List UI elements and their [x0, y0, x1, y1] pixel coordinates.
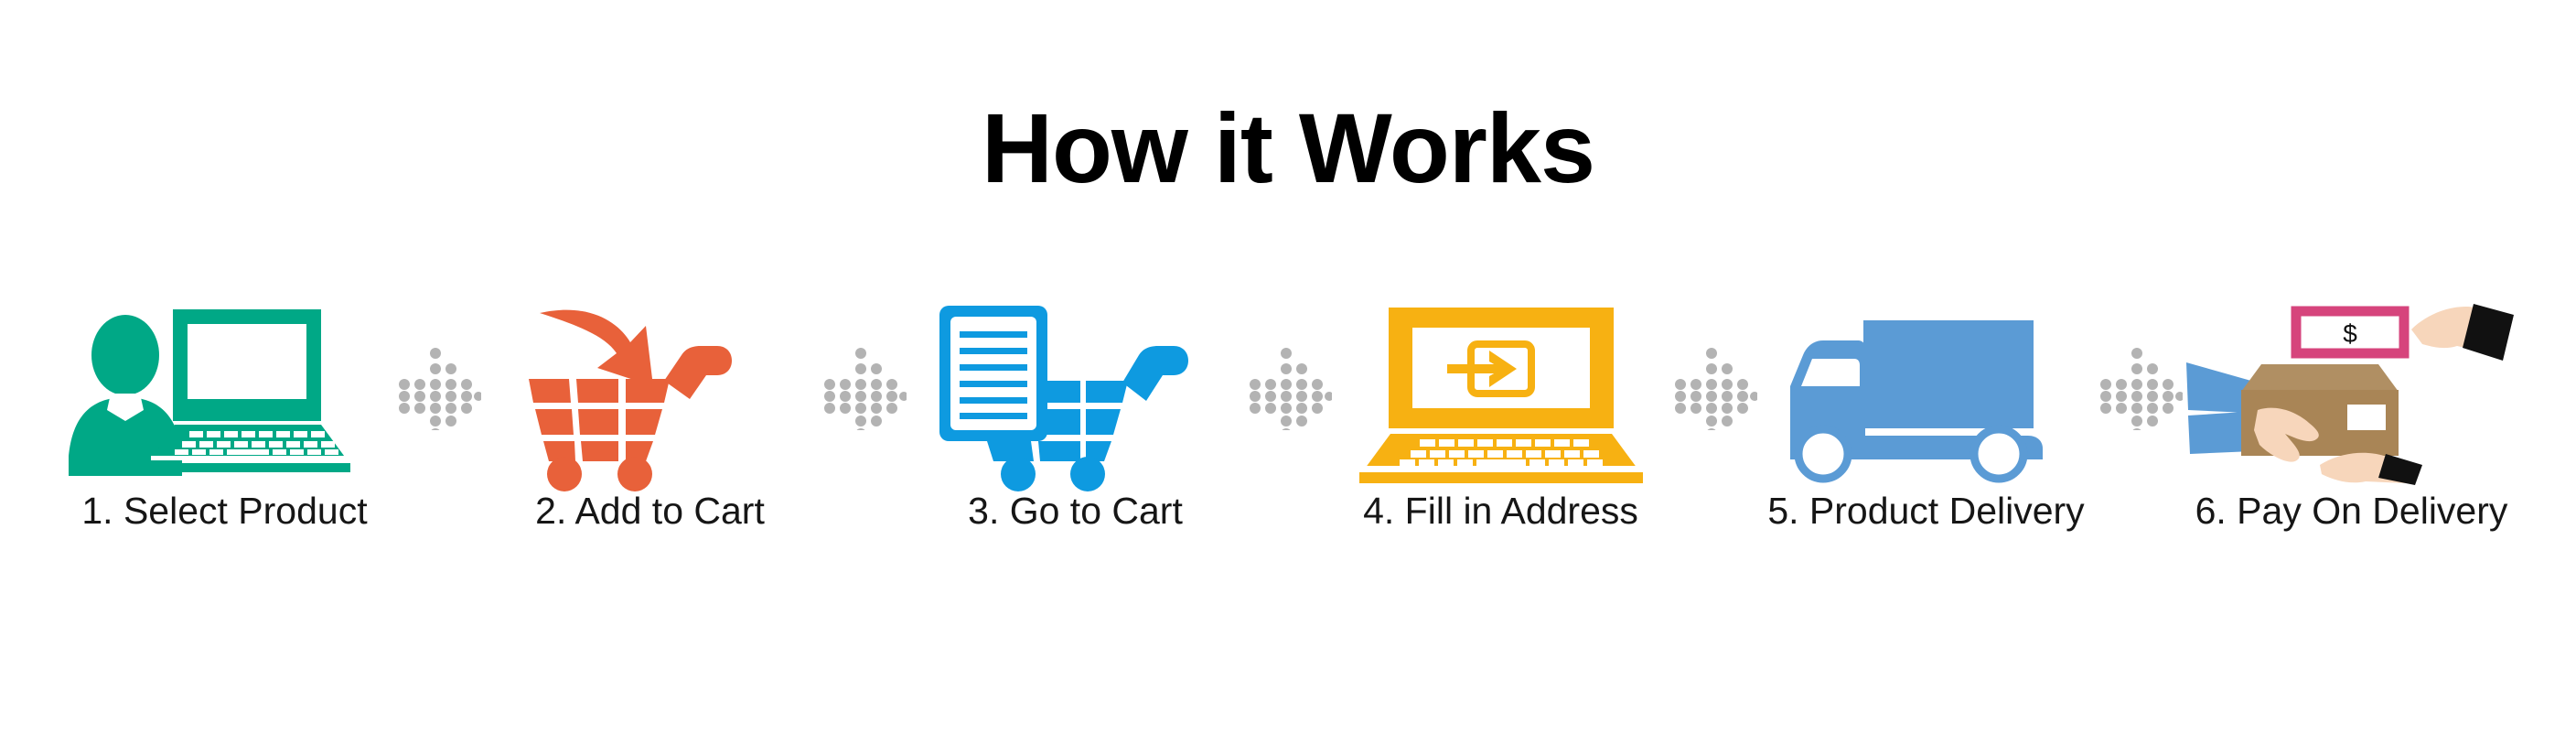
cart-with-arrow-icon: [481, 302, 820, 485]
page-title: How it Works: [0, 99, 2576, 198]
step-label: 3. Go to Cart: [907, 492, 1245, 530]
delivery-truck-icon: [1757, 302, 2096, 485]
laptop-login-icon: [1332, 302, 1670, 485]
dotted-arrow-right-icon: [2096, 302, 2183, 485]
step-2-add-to-cart[interactable]: 2. Add to Cart: [481, 302, 820, 604]
infographic-page: How it Works: [0, 0, 2576, 745]
step-label: 1. Select Product: [56, 492, 394, 530]
banknote-dollar-symbol: $: [2343, 319, 2357, 348]
step-label: 5. Product Delivery: [1757, 492, 2096, 530]
step-4-fill-in-address[interactable]: 4. Fill in Address: [1332, 302, 1670, 604]
step-5-product-delivery[interactable]: 5. Product Delivery: [1757, 302, 2096, 604]
step-label: 4. Fill in Address: [1332, 492, 1670, 530]
step-6-pay-on-delivery[interactable]: $ 6. Pay On: [2183, 302, 2521, 604]
step-label: 6. Pay On Delivery: [2183, 492, 2521, 530]
cash-on-delivery-icon: $: [2183, 302, 2521, 485]
dotted-arrow-right-icon: [820, 302, 907, 485]
step-1-select-product[interactable]: 1. Select Product: [56, 302, 394, 604]
person-with-laptop-icon: [56, 302, 394, 485]
dotted-arrow-right-icon: [394, 302, 481, 485]
document-with-cart-icon: [907, 302, 1245, 485]
dotted-arrow-right-icon: [1245, 302, 1332, 485]
steps-row: 1. Select Product: [46, 302, 2530, 604]
step-label: 2. Add to Cart: [481, 492, 820, 530]
dotted-arrow-right-icon: [1670, 302, 1757, 485]
step-3-go-to-cart[interactable]: 3. Go to Cart: [907, 302, 1245, 604]
